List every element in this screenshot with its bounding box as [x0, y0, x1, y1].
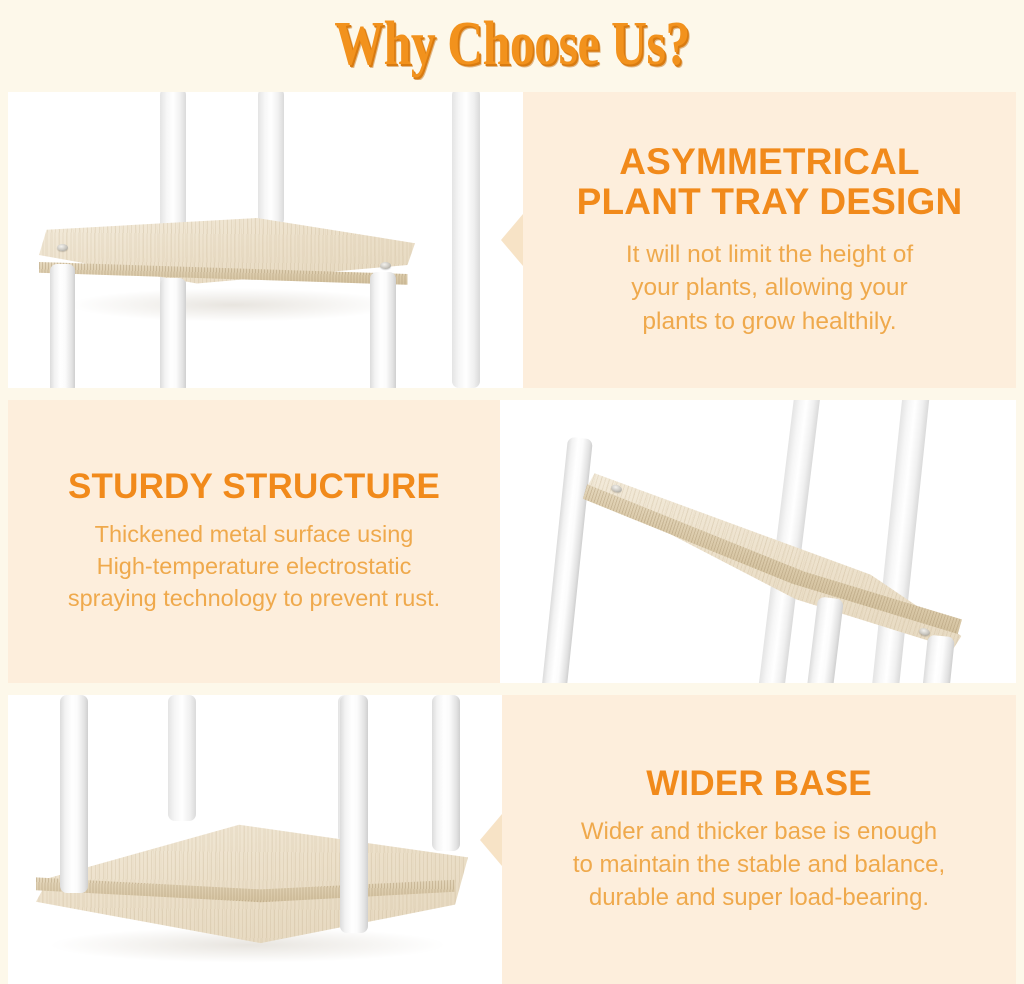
- product-scene-angled-shelf: [500, 400, 1016, 683]
- feature-body: Thickened metal surface using High-tempe…: [68, 519, 440, 615]
- feature-row-wider-base: WIDER BASE Wider and thicker base is eno…: [8, 695, 1016, 984]
- feature-photo-angled-shelf: [500, 400, 1016, 683]
- wood-base-board: [36, 807, 468, 955]
- infographic-page: Why Choose Us?: [0, 0, 1024, 984]
- pole-back-right: [258, 92, 284, 226]
- panel-pointer-left: [480, 814, 502, 866]
- feature-row-sturdy-structure: STURDY STRUCTURE Thickened metal surface…: [8, 400, 1016, 683]
- pole-far-right: [432, 695, 460, 851]
- feature-panel-sturdy-structure: STURDY STRUCTURE Thickened metal surface…: [8, 400, 500, 683]
- board-top-surface: [39, 218, 415, 302]
- screw-left: [57, 244, 68, 251]
- feature-body: It will not limit the height of your pla…: [626, 238, 913, 338]
- title-bar: Why Choose Us?: [0, 0, 1024, 88]
- wood-shelf-board: [39, 218, 415, 302]
- panel-pointer-left: [501, 214, 523, 266]
- page-title: Why Choose Us?: [334, 9, 689, 80]
- feature-photo-wide-base: [8, 695, 502, 984]
- feature-row-asymmetrical-plant-tray-design: ASYMMETRICAL PLANT TRAY DESIGN It will n…: [8, 92, 1016, 388]
- product-scene-square-shelf: [8, 92, 523, 388]
- screw-right: [380, 262, 391, 269]
- pole-far-right: [452, 92, 480, 388]
- pole-front-right: [340, 695, 368, 933]
- pole-front-right-lower: [921, 635, 955, 683]
- feature-heading: ASYMMETRICAL PLANT TRAY DESIGN: [577, 142, 963, 222]
- pole-front-right: [370, 272, 396, 388]
- pole-front-mid: [160, 278, 186, 388]
- feature-photo-square-shelf: [8, 92, 523, 388]
- feature-heading: WIDER BASE: [646, 765, 872, 803]
- pole-front-left: [60, 695, 88, 893]
- pole-back-left: [168, 695, 196, 821]
- feature-panel-wider-base: WIDER BASE Wider and thicker base is eno…: [502, 695, 1016, 984]
- feature-panel-asymmetrical-plant-tray-design: ASYMMETRICAL PLANT TRAY DESIGN It will n…: [523, 92, 1016, 388]
- pole-front-left: [50, 264, 75, 388]
- feature-body: Wider and thicker base is enough to main…: [573, 816, 945, 914]
- product-scene-wide-base: [8, 695, 502, 984]
- feature-heading: STURDY STRUCTURE: [68, 468, 440, 506]
